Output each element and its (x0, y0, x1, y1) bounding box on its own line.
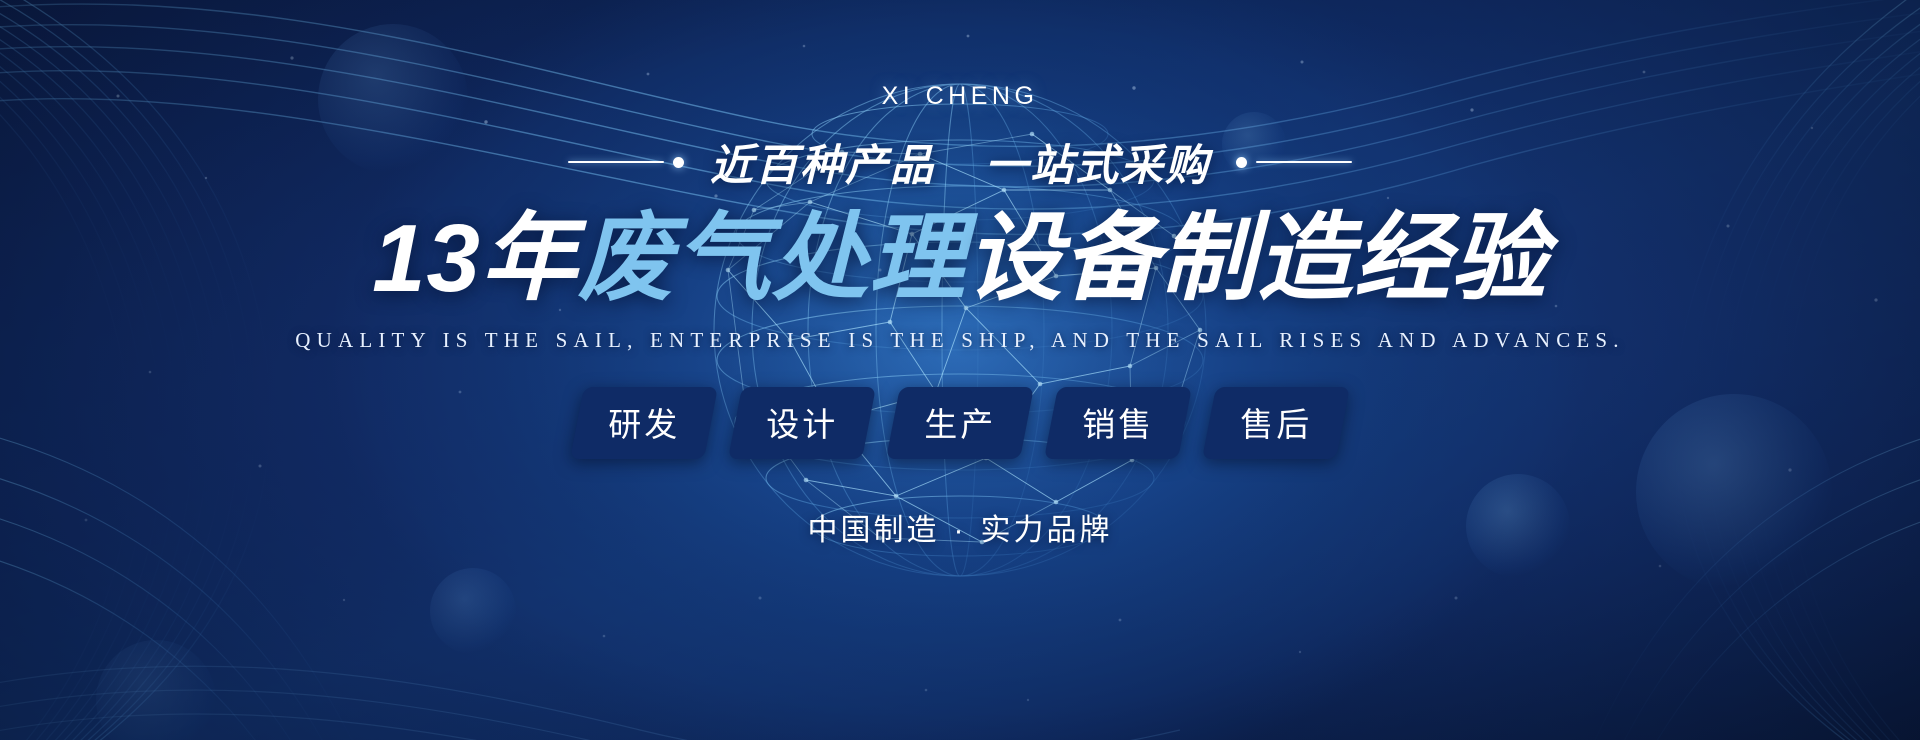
subtitle-right: 一站式采购 (985, 142, 1210, 190)
pill-production[interactable]: 生产 (886, 387, 1034, 459)
subtitle-row: 近百种产品 一站式采购 (568, 131, 1352, 193)
headline-part-2-highlight: 废气处理 (578, 205, 966, 312)
service-pill-row: 研发 设计 生产 销售 售后 (577, 387, 1343, 459)
pill-production-label: 生产 (924, 398, 996, 446)
pill-design-label: 设计 (766, 398, 838, 446)
headline-part-1: 13年 (372, 205, 578, 312)
footer-separator: · (940, 514, 981, 548)
english-tagline: QUALITY IS THE SAIL, ENTERPRISE IS THE S… (295, 328, 1625, 353)
footer-slogan: 中国制造·实力品牌 (808, 505, 1113, 549)
pill-rd[interactable]: 研发 (570, 387, 718, 459)
footer-right: 实力品牌 (981, 514, 1113, 547)
headline-part-3: 设备制造经验 (966, 205, 1548, 312)
pill-sales-label: 销售 (1082, 398, 1154, 446)
pill-sales[interactable]: 销售 (1044, 387, 1192, 459)
page-title: 13年废气处理设备制造经验 (372, 203, 1548, 314)
brand-name: XI CHENG (882, 82, 1039, 111)
decoration-line-left (568, 157, 684, 168)
hero-banner: XI CHENG 近百种产品 一站式采购 13年废气处理设备制造经验 QUALI… (0, 0, 1920, 740)
pill-after-sales-label: 售后 (1240, 398, 1312, 446)
pill-design[interactable]: 设计 (728, 387, 876, 459)
footer-left: 中国制造 (808, 514, 940, 547)
decoration-line-right (1236, 157, 1352, 168)
banner-content: XI CHENG 近百种产品 一站式采购 13年废气处理设备制造经验 QUALI… (0, 0, 1920, 740)
pill-after-sales[interactable]: 售后 (1202, 387, 1350, 459)
subtitle-left: 近百种产品 (710, 142, 935, 190)
subtitle-text: 近百种产品 一站式采购 (710, 131, 1210, 193)
pill-rd-label: 研发 (608, 398, 680, 446)
